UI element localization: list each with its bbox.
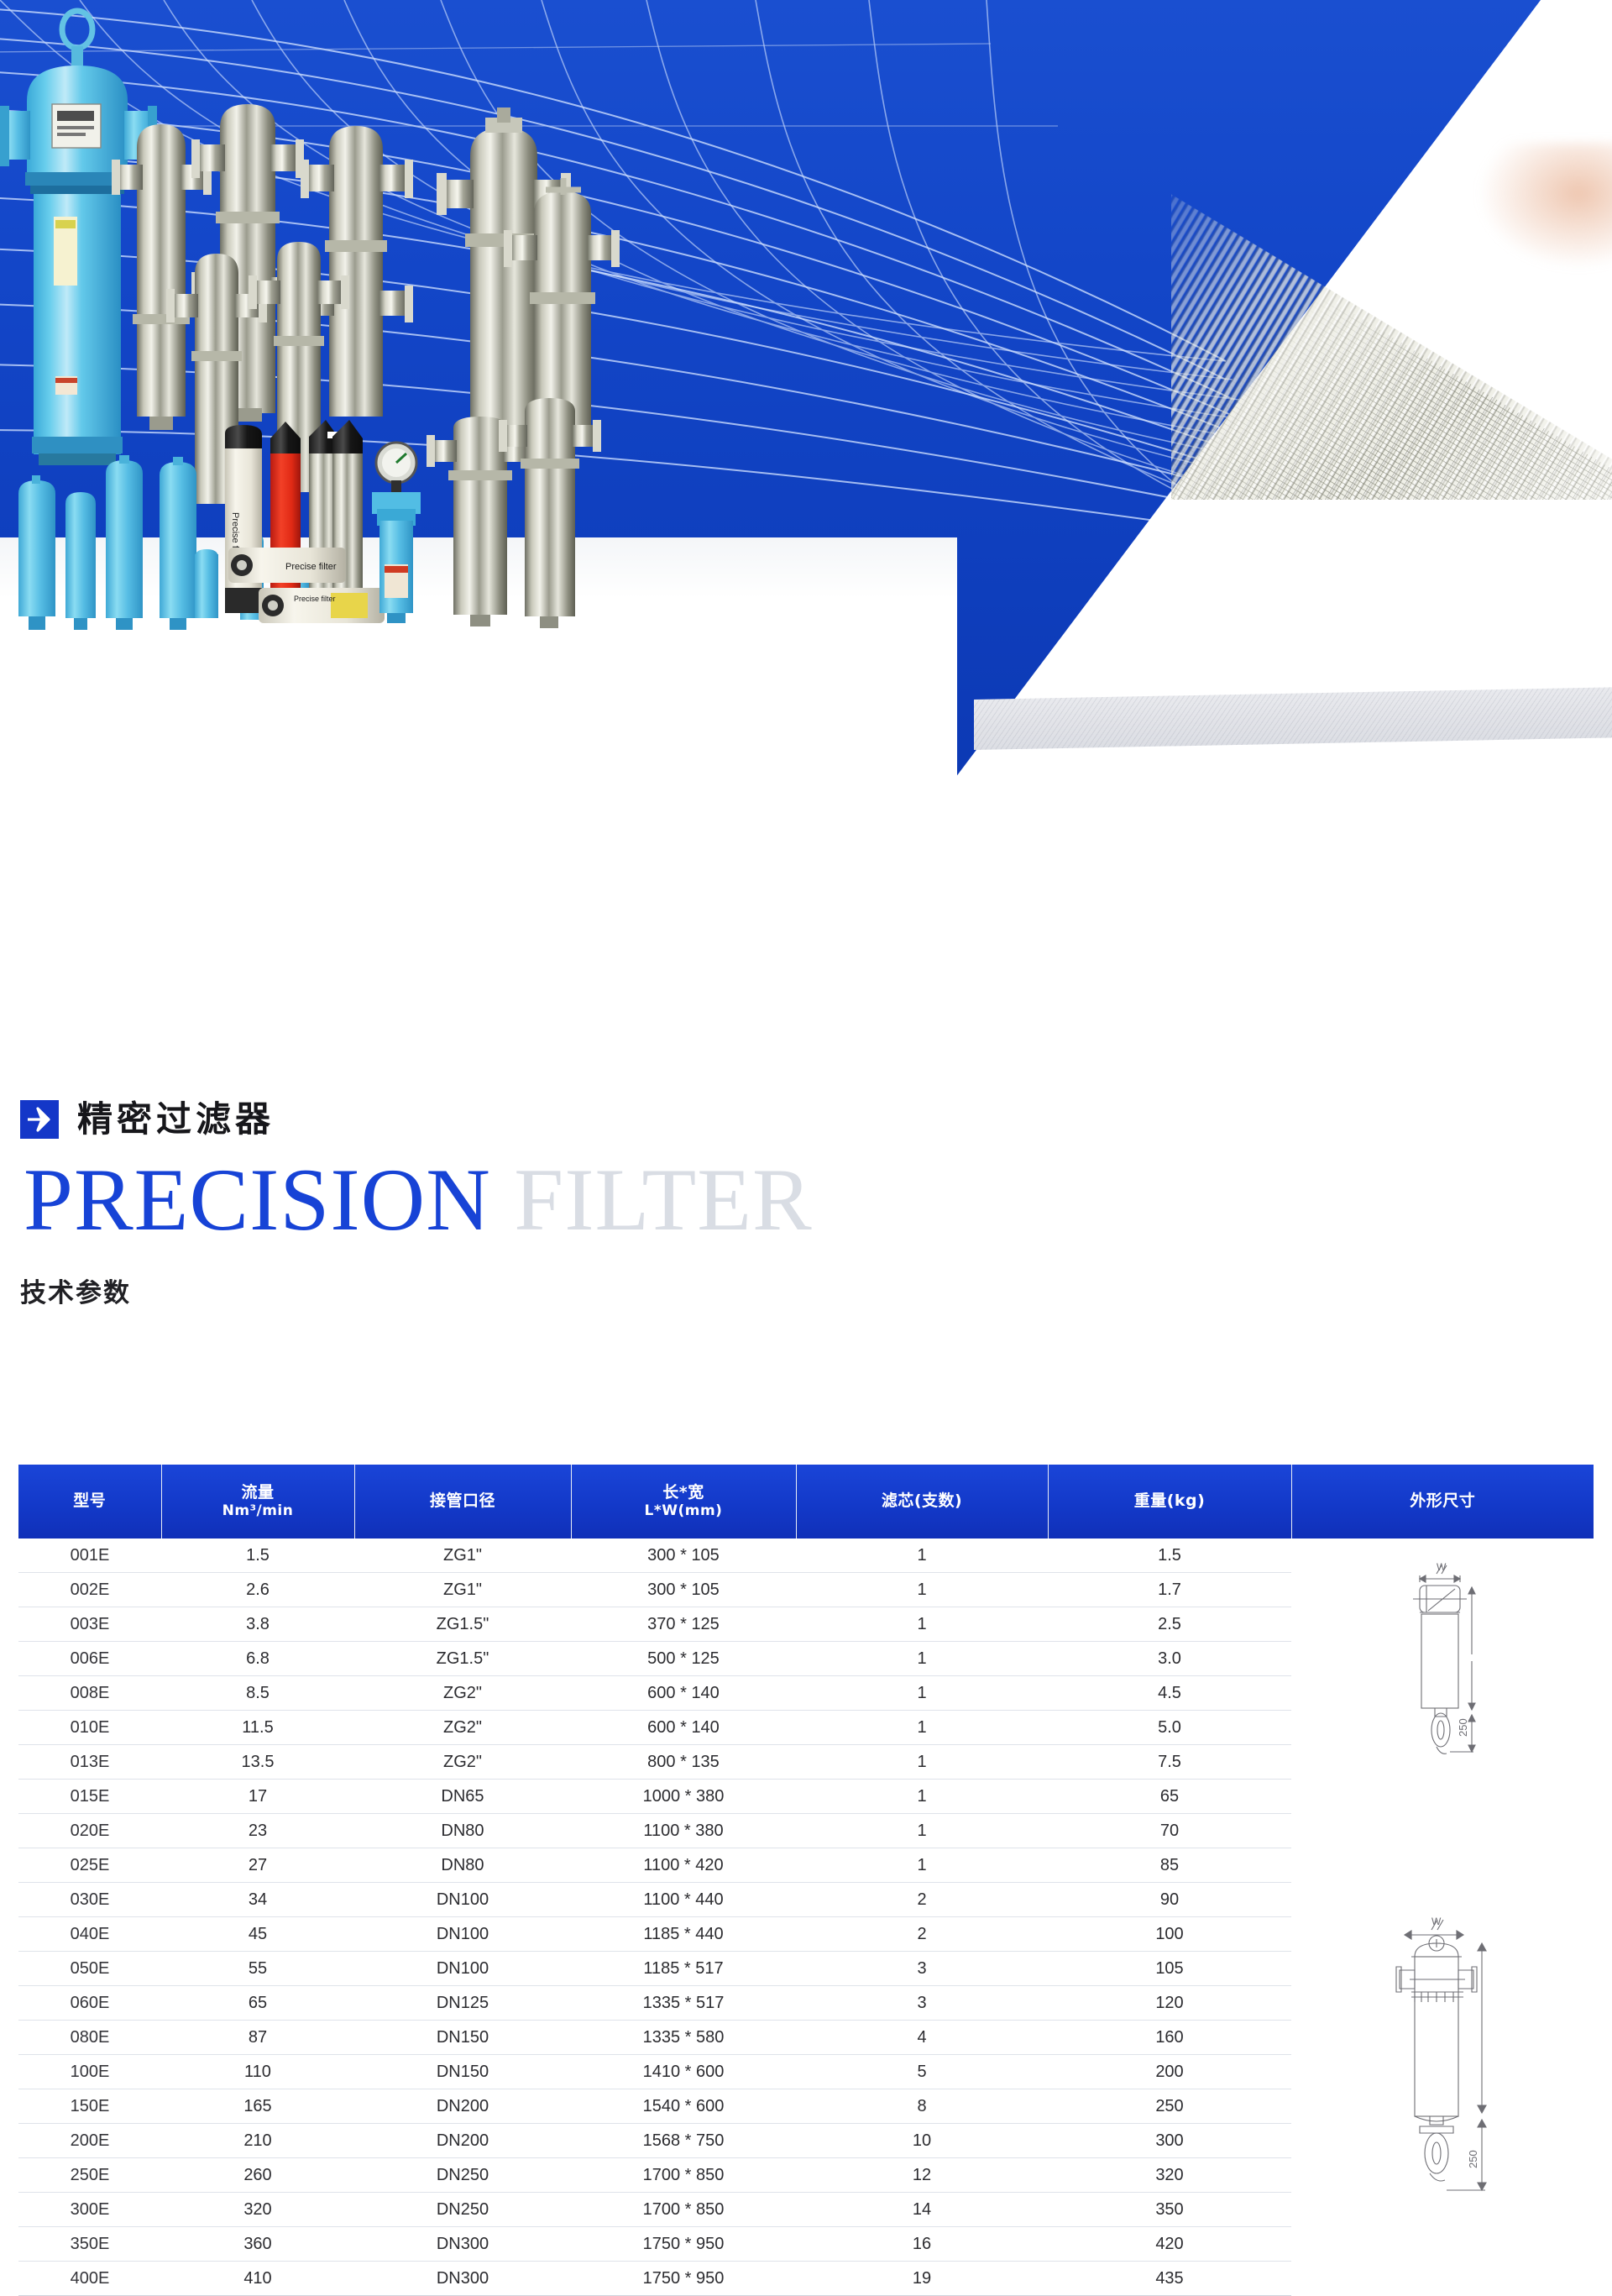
cell-flow: 55	[161, 1952, 354, 1986]
spec-table-header-row: 型号 流量 Nm³/min 接管口径 长*宽 L*W(mm) 滤芯(支数) 重量	[18, 1465, 1594, 1539]
cell-length-width: 1185 * 440	[571, 1917, 796, 1952]
cell-port-diameter: ZG2"	[354, 1745, 571, 1780]
cell-length-width: 500 * 125	[571, 1642, 796, 1676]
cell-flow: 34	[161, 1883, 354, 1917]
cell-model: 300E	[18, 2193, 161, 2227]
cell-port-diameter: ZG1.5"	[354, 1607, 571, 1642]
cell-outline-drawing-small: 250 W	[1291, 1539, 1594, 1780]
cell-flow: 1.5	[161, 1539, 354, 1573]
col-header-cartridge-count: 滤芯(支数)	[796, 1465, 1048, 1539]
cell-length-width: 800 * 135	[571, 1745, 796, 1780]
cell-flow: 17	[161, 1780, 354, 1814]
cell-model: 150E	[18, 2089, 161, 2124]
cell-model: 040E	[18, 1917, 161, 1952]
cell-port-diameter: ZG1.5"	[354, 1642, 571, 1676]
title-section: 精密过滤器 PRECISION FILTER 技术参数	[0, 781, 1612, 1309]
svg-text:250: 250	[1457, 1719, 1469, 1738]
cell-flow: 6.8	[161, 1642, 354, 1676]
cell-weight: 435	[1048, 2262, 1291, 2296]
cell-cartridge-count: 1	[796, 1573, 1048, 1607]
cell-weight: 105	[1048, 1952, 1291, 1986]
cell-cartridge-count: 1	[796, 1745, 1048, 1780]
cell-length-width: 1540 * 600	[571, 2089, 796, 2124]
cell-cartridge-count: 8	[796, 2089, 1048, 2124]
cell-port-diameter: DN100	[354, 1883, 571, 1917]
cell-length-width: 300 * 105	[571, 1573, 796, 1607]
cell-cartridge-count: 1	[796, 1711, 1048, 1745]
cell-weight: 200	[1048, 2055, 1291, 2089]
cell-length-width: 1335 * 580	[571, 2021, 796, 2055]
cell-flow: 3.8	[161, 1607, 354, 1642]
cell-length-width: 1700 * 850	[571, 2193, 796, 2227]
cell-weight: 100	[1048, 1917, 1291, 1952]
cell-cartridge-count: 16	[796, 2227, 1048, 2262]
cell-port-diameter: DN80	[354, 1814, 571, 1848]
cell-length-width: 1568 * 750	[571, 2124, 796, 2158]
cell-cartridge-count: 1	[796, 1676, 1048, 1711]
cell-length-width: 1000 * 380	[571, 1780, 796, 1814]
cell-flow: 2.6	[161, 1573, 354, 1607]
cell-port-diameter: ZG1"	[354, 1539, 571, 1573]
cell-port-diameter: DN200	[354, 2089, 571, 2124]
cell-weight: 85	[1048, 1848, 1291, 1883]
svg-text:W: W	[1431, 1916, 1442, 1927]
cell-cartridge-count: 1	[796, 1642, 1048, 1676]
cell-model: 250E	[18, 2158, 161, 2193]
cell-flow: 260	[161, 2158, 354, 2193]
cell-flow: 11.5	[161, 1711, 354, 1745]
cell-flow: 87	[161, 2021, 354, 2055]
col-header-port-diameter: 接管口径	[354, 1465, 571, 1539]
hero-products-illustration: Precise filter Precise filter Precise fi…	[0, 0, 1612, 781]
cell-port-diameter: DN150	[354, 2021, 571, 2055]
spec-table-body: 001E1.5ZG1"300 * 10511.5 250 W 002E2.6ZG	[18, 1539, 1594, 2296]
spec-table-head: 型号 流量 Nm³/min 接管口径 长*宽 L*W(mm) 滤芯(支数) 重量	[18, 1465, 1594, 1539]
cell-weight: 320	[1048, 2158, 1291, 2193]
cell-weight: 90	[1048, 1883, 1291, 1917]
svg-text:W: W	[1437, 1561, 1447, 1573]
cell-cartridge-count: 1	[796, 1780, 1048, 1814]
cell-weight: 350	[1048, 2193, 1291, 2227]
cell-port-diameter: DN125	[354, 1986, 571, 2021]
cell-cartridge-count: 1	[796, 1607, 1048, 1642]
cell-model: 002E	[18, 1573, 161, 1607]
cell-weight: 4.5	[1048, 1676, 1291, 1711]
cell-length-width: 300 * 105	[571, 1539, 796, 1573]
cell-flow: 110	[161, 2055, 354, 2089]
cell-length-width: 1100 * 380	[571, 1814, 796, 1848]
cell-port-diameter: DN200	[354, 2124, 571, 2158]
cell-weight: 1.7	[1048, 1573, 1291, 1607]
svg-text:Precise filter: Precise filter	[285, 562, 337, 572]
cell-port-diameter: DN250	[354, 2158, 571, 2193]
cell-length-width: 1335 * 517	[571, 1986, 796, 2021]
col-header-flow: 流量 Nm³/min	[161, 1465, 354, 1539]
cell-length-width: 1100 * 440	[571, 1883, 796, 1917]
cell-weight: 65	[1048, 1780, 1291, 1814]
cell-weight: 2.5	[1048, 1607, 1291, 1642]
cell-flow: 210	[161, 2124, 354, 2158]
cell-port-diameter: DN250	[354, 2193, 571, 2227]
cell-port-diameter: DN300	[354, 2227, 571, 2262]
tech-params-heading: 技术参数	[0, 1271, 1612, 1309]
cell-cartridge-count: 10	[796, 2124, 1048, 2158]
cell-model: 400E	[18, 2262, 161, 2296]
cell-cartridge-count: 3	[796, 1952, 1048, 1986]
cell-port-diameter: DN300	[354, 2262, 571, 2296]
cell-flow: 23	[161, 1814, 354, 1848]
cell-model: 010E	[18, 1711, 161, 1745]
svg-text:Precise filter: Precise filter	[294, 595, 336, 603]
col-header-outline-dimension: 外形尺寸	[1291, 1465, 1594, 1539]
table-row[interactable]: 001E1.5ZG1"300 * 10511.5 250 W	[18, 1539, 1594, 1573]
cell-cartridge-count: 2	[796, 1883, 1048, 1917]
cell-model: 030E	[18, 1883, 161, 1917]
cell-port-diameter: ZG2"	[354, 1676, 571, 1711]
cell-cartridge-count: 1	[796, 1848, 1048, 1883]
cell-weight: 160	[1048, 2021, 1291, 2055]
cell-model: 006E	[18, 1642, 161, 1676]
cell-flow: 27	[161, 1848, 354, 1883]
cell-length-width: 1410 * 600	[571, 2055, 796, 2089]
cell-port-diameter: DN100	[354, 1917, 571, 1952]
section-title-en-secondary: FILTER	[514, 1151, 812, 1249]
cell-flow: 165	[161, 2089, 354, 2124]
section-title-en: PRECISION FILTER	[0, 1152, 1612, 1248]
cell-flow: 13.5	[161, 1745, 354, 1780]
small-filter-outline-drawing: 250 W	[1379, 1554, 1505, 1764]
section-title-cn: 精密过滤器	[77, 1102, 275, 1137]
cell-length-width: 370 * 125	[571, 1607, 796, 1642]
cell-cartridge-count: 1	[796, 1814, 1048, 1848]
cell-outline-drawing-large: 250 W	[1291, 1780, 1594, 2296]
svg-text:250: 250	[1467, 2150, 1479, 2168]
cell-cartridge-count: 2	[796, 1917, 1048, 1952]
cell-model: 013E	[18, 1745, 161, 1780]
cell-length-width: 600 * 140	[571, 1676, 796, 1711]
col-header-length-width: 长*宽 L*W(mm)	[571, 1465, 796, 1539]
cell-flow: 8.5	[161, 1676, 354, 1711]
cell-flow: 360	[161, 2227, 354, 2262]
cell-cartridge-count: 3	[796, 1986, 1048, 2021]
cell-weight: 5.0	[1048, 1711, 1291, 1745]
cell-model: 050E	[18, 1952, 161, 1986]
arrow-right-icon	[20, 1100, 59, 1139]
cell-port-diameter: ZG1"	[354, 1573, 571, 1607]
cell-length-width: 600 * 140	[571, 1711, 796, 1745]
cell-cartridge-count: 14	[796, 2193, 1048, 2227]
cell-model: 350E	[18, 2227, 161, 2262]
cell-flow: 320	[161, 2193, 354, 2227]
cell-weight: 3.0	[1048, 1642, 1291, 1676]
hero-banner: Precise filter Precise filter Precise fi…	[0, 0, 1612, 781]
cell-flow: 45	[161, 1917, 354, 1952]
section-heading-row: 精密过滤器	[0, 1100, 1612, 1139]
cell-cartridge-count: 4	[796, 2021, 1048, 2055]
cell-port-diameter: DN65	[354, 1780, 571, 1814]
cell-port-diameter: DN80	[354, 1848, 571, 1883]
cell-length-width: 1185 * 517	[571, 1952, 796, 1986]
cell-model: 100E	[18, 2055, 161, 2089]
cell-model: 080E	[18, 2021, 161, 2055]
cell-length-width: 1700 * 850	[571, 2158, 796, 2193]
cell-weight: 1.5	[1048, 1539, 1291, 1573]
spec-table-wrapper: 型号 流量 Nm³/min 接管口径 长*宽 L*W(mm) 滤芯(支数) 重量	[18, 1465, 1594, 2296]
cell-weight: 120	[1048, 1986, 1291, 2021]
cell-model: 025E	[18, 1848, 161, 1883]
col-header-model: 型号	[18, 1465, 161, 1539]
cell-port-diameter: DN150	[354, 2055, 571, 2089]
col-header-weight: 重量(kg)	[1048, 1465, 1291, 1539]
cell-model: 060E	[18, 1986, 161, 2021]
cell-model: 001E	[18, 1539, 161, 1573]
cell-model: 200E	[18, 2124, 161, 2158]
section-title-en-primary: PRECISION	[24, 1151, 491, 1249]
cell-cartridge-count: 1	[796, 1539, 1048, 1573]
cell-weight: 7.5	[1048, 1745, 1291, 1780]
cell-weight: 420	[1048, 2227, 1291, 2262]
cell-weight: 70	[1048, 1814, 1291, 1848]
cell-model: 008E	[18, 1676, 161, 1711]
cell-model: 015E	[18, 1780, 161, 1814]
cell-flow: 65	[161, 1986, 354, 2021]
large-filter-outline-drawing: 250 W	[1363, 1869, 1522, 2205]
cell-model: 003E	[18, 1607, 161, 1642]
cell-model: 020E	[18, 1814, 161, 1848]
cell-length-width: 1750 * 950	[571, 2262, 796, 2296]
cell-flow: 410	[161, 2262, 354, 2296]
cell-weight: 300	[1048, 2124, 1291, 2158]
cell-length-width: 1750 * 950	[571, 2227, 796, 2262]
cell-port-diameter: ZG2"	[354, 1711, 571, 1745]
cell-cartridge-count: 5	[796, 2055, 1048, 2089]
spec-table: 型号 流量 Nm³/min 接管口径 长*宽 L*W(mm) 滤芯(支数) 重量	[18, 1465, 1594, 2296]
cell-cartridge-count: 19	[796, 2262, 1048, 2296]
cell-cartridge-count: 12	[796, 2158, 1048, 2193]
cell-port-diameter: DN100	[354, 1952, 571, 1986]
cell-length-width: 1100 * 420	[571, 1848, 796, 1883]
cell-weight: 250	[1048, 2089, 1291, 2124]
table-row[interactable]: 015E17DN651000 * 380165	[18, 1780, 1594, 1814]
